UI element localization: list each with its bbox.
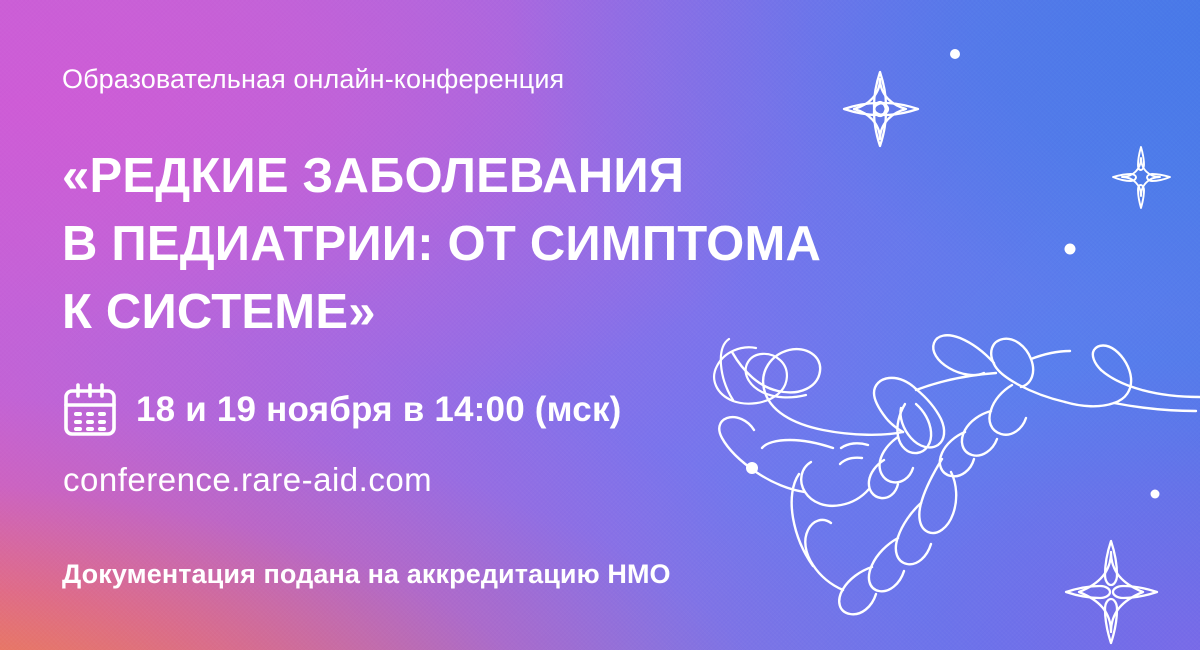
conference-promo-banner: Образовательная онлайн-конференция «РЕДК… [0, 0, 1200, 650]
event-date-text: 18 и 19 ноября в 14:00 (мск) [136, 390, 622, 430]
calendar-icon [62, 382, 118, 438]
event-date-row: 18 и 19 ноября в 14:00 (мск) [62, 382, 622, 438]
title-line-1: «РЕДКИЕ ЗАБОЛЕВАНИЯ [62, 142, 821, 210]
title-line-3: К СИСТЕМЕ» [62, 278, 821, 346]
page-title: «РЕДКИЕ ЗАБОЛЕВАНИЯ В ПЕДИАТРИИ: ОТ СИМП… [62, 142, 821, 346]
conference-website-link[interactable]: conference.rare-aid.com [63, 461, 432, 499]
accreditation-note: Документация подана на аккредитацию НМО [62, 559, 671, 590]
banner-content: Образовательная онлайн-конференция «РЕДК… [62, 0, 962, 650]
title-line-2: В ПЕДИАТРИИ: ОТ СИМПТОМА [62, 210, 821, 278]
event-kicker: Образовательная онлайн-конференция [62, 64, 564, 95]
